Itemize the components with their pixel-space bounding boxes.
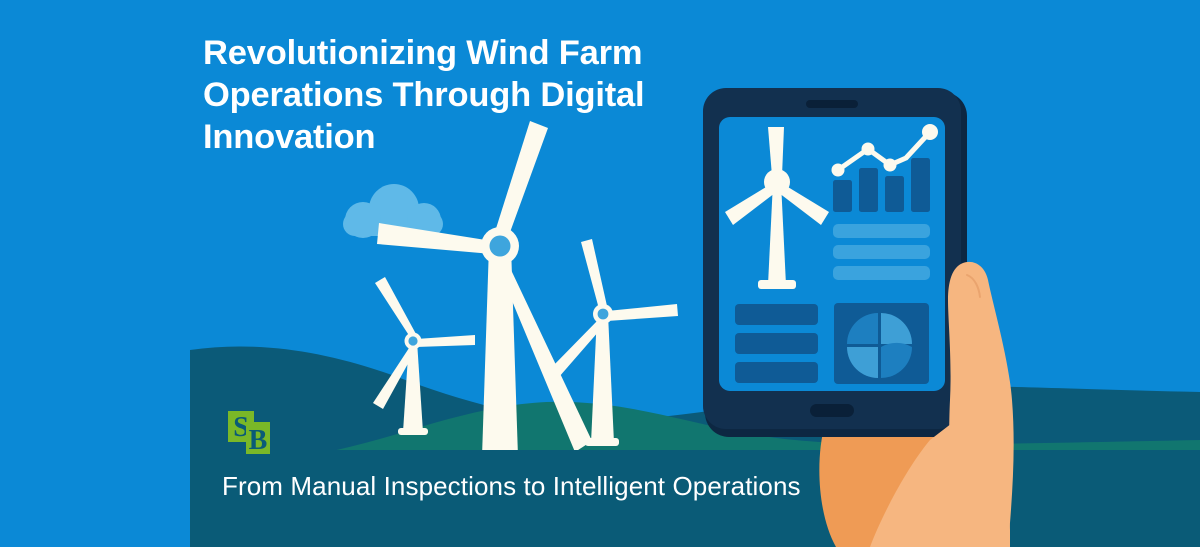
hand-thumb (948, 262, 1014, 547)
page-subtitle: From Manual Inspections to Intelligent O… (222, 470, 801, 502)
logo-letter-b: B (246, 422, 270, 455)
wind-farm-banner: S B (0, 0, 1200, 547)
logo-b-glyph: B (249, 425, 268, 455)
sb-logo: S B (226, 409, 278, 455)
page-title: Revolutionizing Wind Farm Operations Thr… (203, 32, 703, 158)
